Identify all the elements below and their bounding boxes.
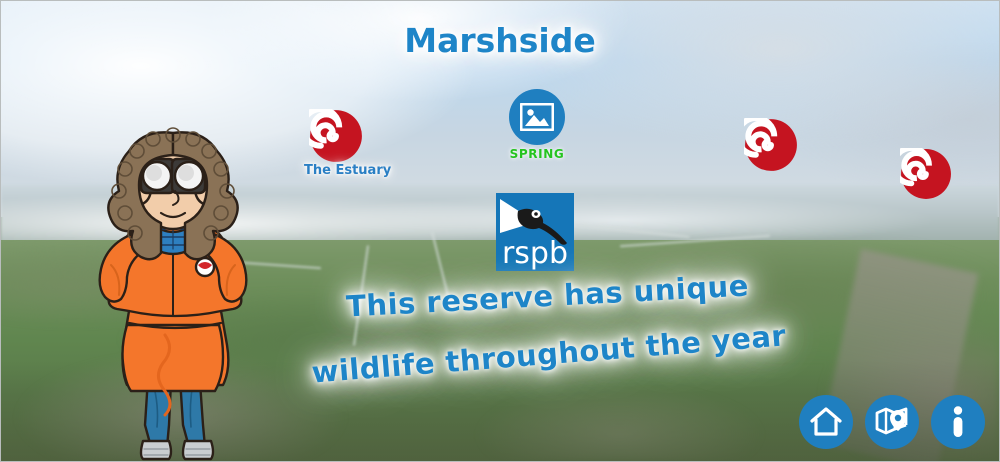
hotspot-2[interactable] bbox=[744, 118, 798, 172]
info-icon bbox=[950, 406, 966, 438]
page-title: Marshside bbox=[1, 21, 999, 60]
red-spiral-icon[interactable] bbox=[900, 148, 952, 200]
birdwatcher-illustration bbox=[73, 125, 273, 462]
hotspot-estuary-label: The Estuary bbox=[304, 163, 391, 178]
season-selector-button[interactable]: SPRING bbox=[504, 89, 570, 161]
marshside-scene: Marshside bbox=[0, 0, 1000, 462]
info-button[interactable] bbox=[931, 395, 985, 449]
season-button-circle[interactable] bbox=[509, 89, 565, 145]
season-label: SPRING bbox=[504, 147, 570, 161]
rspb-logo: rspb bbox=[496, 193, 574, 271]
rspb-avocet-logo: rspb bbox=[496, 193, 574, 271]
rspb-wordmark: rspb bbox=[502, 236, 568, 271]
red-spiral-icon[interactable] bbox=[744, 118, 798, 172]
avatar bbox=[73, 125, 273, 462]
hotspot-3[interactable] bbox=[900, 148, 952, 200]
bottom-navigation-bar bbox=[799, 395, 985, 449]
photo-image-icon bbox=[520, 103, 554, 131]
map-button[interactable] bbox=[865, 395, 919, 449]
hotspot-estuary[interactable] bbox=[309, 109, 363, 163]
red-spiral-icon[interactable] bbox=[309, 109, 363, 163]
home-icon bbox=[810, 407, 842, 437]
home-button[interactable] bbox=[799, 395, 853, 449]
map-pin-icon bbox=[875, 407, 909, 437]
